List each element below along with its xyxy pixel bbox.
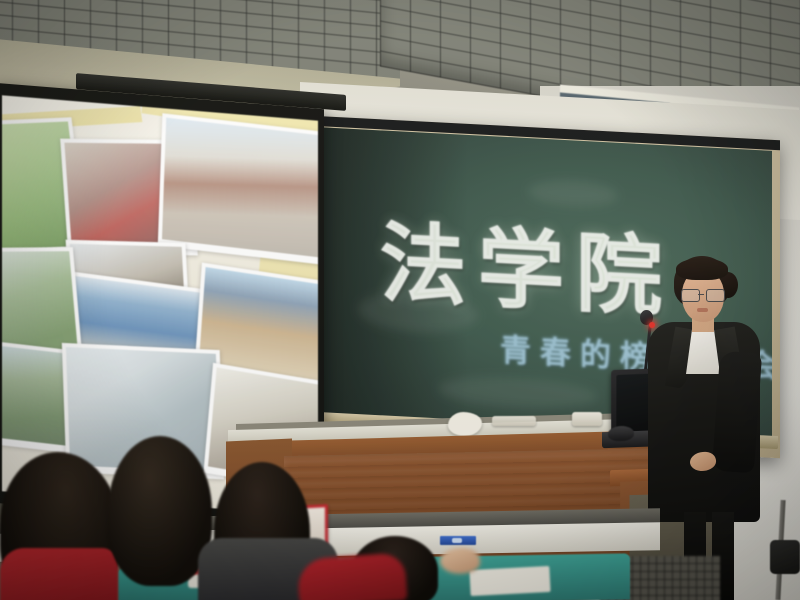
presenter-glasses-icon <box>681 289 725 300</box>
lecture-hall-photo: 法学院 青春的榜样 会 <box>0 0 800 600</box>
chalk-tray-paper <box>492 416 536 426</box>
chalk-eraser[interactable] <box>572 412 602 426</box>
chair-seat[interactable] <box>770 540 800 574</box>
presenter-arm <box>712 351 762 474</box>
microphone-led-icon <box>649 322 655 328</box>
desk-blue-marker <box>440 536 476 545</box>
audience-head <box>108 436 212 586</box>
glasses-lens-left <box>681 289 700 302</box>
blackboard-headline-text: 法学院 <box>380 192 674 332</box>
audience-red-jacket <box>0 548 118 600</box>
glasses-lens-right <box>706 289 725 302</box>
presenter-bangs <box>676 258 728 280</box>
computer-mouse[interactable] <box>608 426 634 442</box>
glasses-bridge <box>698 294 704 295</box>
presenter-mouth <box>697 308 708 312</box>
desk-paper[interactable] <box>469 566 550 596</box>
